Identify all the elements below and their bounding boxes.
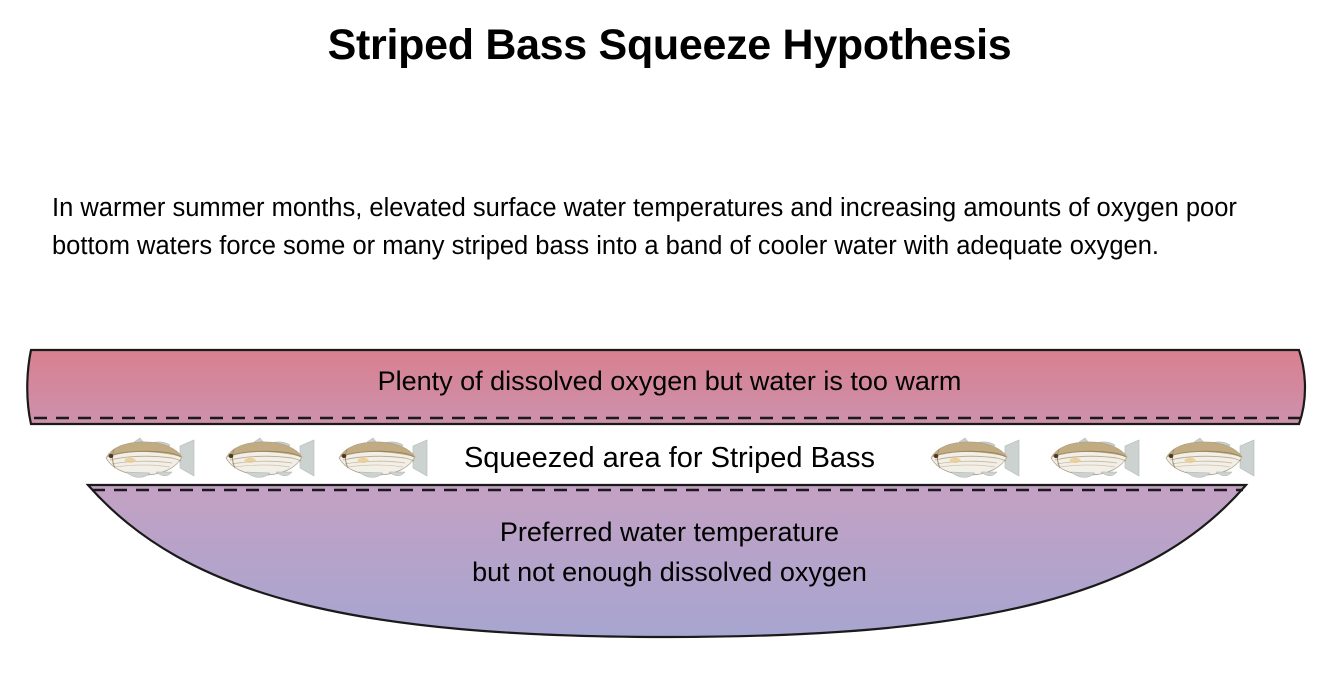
striped-bass-fish-icon (1045, 436, 1141, 482)
page-title: Striped Bass Squeeze Hypothesis (0, 22, 1339, 69)
cold-layer-label: Preferred water temperature but not enou… (0, 512, 1339, 592)
squeeze-diagram: Plenty of dissolved oxygen but water is … (0, 332, 1339, 662)
intro-paragraph: In warmer summer months, elevated surfac… (52, 189, 1287, 265)
striped-bass-fish-icon (220, 436, 316, 482)
striped-bass-fish-icon (1160, 436, 1256, 482)
striped-bass-fish-icon (925, 436, 1021, 482)
warm-layer-label: Plenty of dissolved oxygen but water is … (0, 364, 1339, 398)
striped-bass-fish-icon (100, 436, 196, 482)
cold-layer-label-line-2: but not enough dissolved oxygen (0, 552, 1339, 592)
slide-canvas: Striped Bass Squeeze Hypothesis In warme… (0, 0, 1339, 692)
cold-layer-label-line-1: Preferred water temperature (0, 512, 1339, 552)
striped-bass-fish-icon (333, 436, 429, 482)
